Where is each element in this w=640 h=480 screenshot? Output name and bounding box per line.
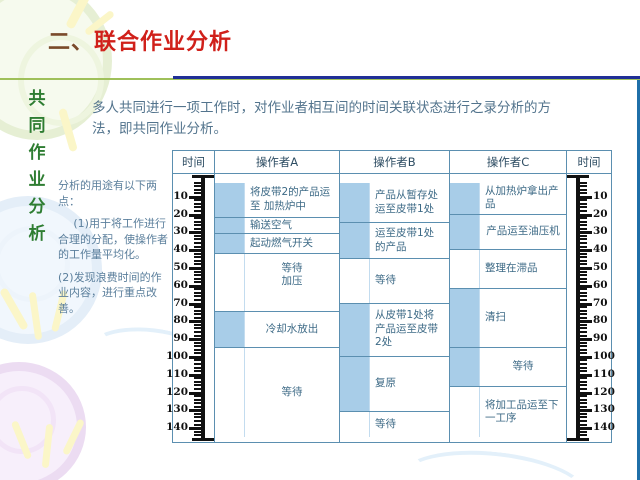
tick-minor [580, 363, 587, 365]
tick-minor [580, 242, 587, 244]
idle-bar [340, 259, 370, 302]
tick-label: 10 [173, 191, 188, 201]
tick-minor [580, 424, 587, 426]
tick-minor [194, 402, 201, 404]
decorative-ray [11, 420, 32, 460]
time-axis-right: 102030405060708090100110120130140 [567, 174, 611, 442]
tick-minor [194, 310, 201, 312]
vertical-label-char: 析 [22, 221, 52, 248]
tick-minor [580, 413, 587, 415]
tick-major [189, 409, 201, 412]
task-label: 从加热炉拿出产品 [480, 183, 566, 214]
idle-bar [450, 387, 480, 437]
tick-minor [580, 253, 587, 255]
tick-minor [194, 413, 201, 415]
tick-major [189, 214, 201, 217]
busy-bar [450, 289, 480, 347]
tick-major [580, 303, 592, 306]
tick-label: 80 [173, 315, 188, 325]
task-label: 等待 [370, 259, 449, 302]
tick-minor [580, 313, 587, 315]
tick-minor [580, 388, 587, 390]
tick-minor [580, 317, 587, 319]
tick-minor [580, 238, 587, 240]
decorative-ray [62, 418, 85, 455]
tick-major [189, 249, 201, 252]
task-label: 等待 [370, 412, 449, 437]
joint-operation-chart: 时间 操作者A 操作者B 操作者C 时间 1020304050607080901… [172, 150, 612, 443]
tick-minor [580, 246, 587, 248]
tick-minor [194, 217, 201, 219]
tick-label: 90 [593, 333, 608, 343]
task-block[interactable]: 清扫 [450, 289, 566, 348]
tick-label: 120 [593, 387, 615, 397]
tick-minor [194, 345, 201, 347]
note-heading: 分析的用途有以下两点： [58, 178, 168, 209]
tick-minor [580, 406, 587, 408]
task-label: 复原 [370, 357, 449, 411]
tick-minor [194, 352, 201, 354]
task-label: 等待加压 [245, 254, 339, 312]
tick-minor [194, 395, 201, 397]
tick-minor [580, 370, 587, 372]
task-block[interactable]: 将皮带2的产品运至 加热炉中 [215, 183, 339, 219]
tick-minor [580, 199, 587, 201]
task-label: 产品从暂存处运至皮带1处 [370, 183, 449, 223]
tick-label: 130 [166, 404, 188, 414]
tick-label: 60 [593, 280, 608, 290]
tick-minor [580, 310, 587, 312]
chart-header-operator-c: 操作者C [450, 151, 567, 173]
decorative-purple-circle-inner [0, 386, 56, 454]
vertical-label-char: 作 [22, 140, 52, 167]
note-item-1: (1)用于将工作进行合理的分配，使操作者的工作量平均化。 [58, 216, 168, 263]
tick-major [189, 196, 201, 199]
chart-body: 102030405060708090100110120130140 将皮带2的产… [173, 174, 611, 442]
tick-minor [580, 367, 587, 369]
tick-major [189, 320, 201, 323]
tick-major [580, 392, 592, 395]
tick-minor [580, 182, 587, 184]
busy-bar [215, 183, 245, 218]
tick-label: 120 [166, 387, 188, 397]
tick-label: 10 [593, 191, 608, 201]
decorative-ray [29, 292, 43, 341]
tick-minor [194, 199, 201, 201]
tick-minor [580, 342, 587, 344]
tick-label: 70 [173, 298, 188, 308]
tick-minor [580, 192, 587, 194]
tick-major [580, 374, 592, 377]
tick-label: 30 [173, 226, 188, 236]
tick-minor [580, 256, 587, 258]
tick-minor [194, 221, 201, 223]
tick-label: 70 [593, 298, 608, 308]
tick-minor [194, 331, 201, 333]
tick-minor [194, 327, 201, 329]
task-block[interactable]: 等待加压 [215, 254, 339, 313]
header-divider-blue [173, 76, 640, 79]
task-label: 起动燃气开关 [245, 234, 339, 253]
tick-major [189, 374, 201, 377]
tick-minor [194, 256, 201, 258]
busy-bar [215, 312, 245, 347]
task-label: 将加工品运至下一工序 [480, 387, 566, 437]
tick-minor [194, 182, 201, 184]
task-block[interactable]: 产品从暂存处运至皮带1处 [340, 183, 449, 224]
intro-paragraph: 多人共同进行一项工作时，对作业者相互间的时间关联状态进行之录分析的方法，即共同作… [92, 98, 562, 140]
task-block[interactable]: 等待 [450, 348, 566, 387]
tick-minor [194, 416, 201, 418]
task-label: 等待 [245, 348, 339, 437]
lane-operator-b: 产品从暂存处运至皮带1处运至皮带1处的产品等待从皮带1处将产品运至皮带2处复原等… [340, 174, 450, 442]
tick-minor [194, 388, 201, 390]
tick-minor [194, 317, 201, 319]
tick-minor [580, 221, 587, 223]
tick-minor [580, 292, 587, 294]
tick-minor [580, 299, 587, 301]
tick-minor [194, 253, 201, 255]
tick-minor [194, 299, 201, 301]
axis-cap [192, 438, 214, 441]
busy-bar [340, 223, 370, 258]
task-block[interactable]: 产品运至油压机 [450, 215, 566, 251]
busy-bar [450, 215, 480, 250]
tick-minor [194, 235, 201, 237]
idle-bar [340, 412, 370, 437]
tick-minor [194, 203, 201, 205]
tick-minor [194, 192, 201, 194]
tick-minor [580, 345, 587, 347]
task-block[interactable]: 将加工品运至下一工序 [450, 387, 566, 437]
tick-minor [194, 185, 201, 187]
tick-major [189, 427, 201, 430]
tick-label: 50 [173, 262, 188, 272]
tick-minor [580, 402, 587, 404]
tick-label: 30 [593, 226, 608, 236]
tick-label: 90 [173, 333, 188, 343]
decorative-ray [42, 424, 54, 468]
task-block[interactable]: 输送空气 [215, 218, 339, 234]
tick-label: 50 [593, 262, 608, 272]
tick-label: 130 [593, 404, 615, 414]
tick-minor [194, 263, 201, 265]
decorative-ray [0, 287, 29, 331]
tick-minor [194, 384, 201, 386]
idle-bar [450, 250, 480, 288]
vertical-label-char: 同 [22, 113, 52, 140]
tick-minor [580, 260, 587, 262]
tick-minor [580, 434, 587, 436]
task-label: 将皮带2的产品运至 加热炉中 [245, 183, 339, 218]
tick-minor [580, 263, 587, 265]
tick-minor [580, 281, 587, 283]
task-label: 产品运至油压机 [480, 215, 566, 250]
tick-minor [194, 363, 201, 365]
tick-minor [580, 206, 587, 208]
tick-minor [194, 406, 201, 408]
tick-minor [580, 295, 587, 297]
task-block[interactable]: 整理在滞品 [450, 250, 566, 289]
tick-minor [580, 271, 587, 273]
tick-minor [194, 367, 201, 369]
tick-minor [580, 352, 587, 354]
decorative-arc [397, 442, 591, 480]
tick-major [580, 427, 592, 430]
slide-canvas: 二、联合作业分析 共 同 作 业 分 析 多人共同进行一项工作时，对作业者相互间… [0, 0, 640, 480]
tick-major [580, 231, 592, 234]
busy-bar [340, 304, 370, 356]
task-label: 运至皮带1处的产品 [370, 223, 449, 258]
busy-bar [340, 183, 370, 223]
tick-major [189, 303, 201, 306]
vertical-section-label: 共 同 作 业 分 析 [22, 86, 52, 248]
page-title-number: 二、 [48, 29, 94, 55]
vertical-label-char: 分 [22, 194, 52, 221]
chart-header-time-left: 时间 [173, 151, 215, 173]
task-label: 冷却水放出 [245, 312, 339, 347]
tick-minor [580, 416, 587, 418]
axis-cap [567, 175, 589, 178]
chart-header-operator-a: 操作者A [215, 151, 340, 173]
tick-major [189, 231, 201, 234]
time-axis-left: 102030405060708090100110120130140 [173, 174, 215, 442]
notes-block: 分析的用途有以下两点： (1)用于将工作进行合理的分配，使操作者的工作量平均化。… [58, 178, 168, 323]
tick-label: 40 [173, 244, 188, 254]
tick-minor [194, 292, 201, 294]
busy-bar [450, 183, 480, 214]
tick-minor [194, 260, 201, 262]
busy-bar [340, 357, 370, 411]
tick-minor [194, 274, 201, 276]
tick-minor [580, 399, 587, 401]
busy-bar [450, 348, 480, 386]
tick-minor [194, 335, 201, 337]
tick-minor [580, 185, 587, 187]
lane-operator-a: 将皮带2的产品运至 加热炉中输送空气起动燃气开关等待加压冷却水放出等待 [215, 174, 340, 442]
tick-minor [194, 189, 201, 191]
lane-operator-c: 从加热炉拿出产品产品运至油压机整理在滞品清扫等待将加工品运至下一工序 [450, 174, 567, 442]
task-label: 整理在滞品 [480, 250, 566, 288]
tick-minor [580, 203, 587, 205]
tick-label: 60 [173, 280, 188, 290]
chart-header-operator-b: 操作者B [340, 151, 450, 173]
tick-minor [580, 217, 587, 219]
tick-minor [194, 381, 201, 383]
tick-minor [194, 424, 201, 426]
tick-label: 40 [593, 244, 608, 254]
tick-major [580, 214, 592, 217]
decorative-purple-circle [0, 362, 86, 480]
tick-minor [580, 306, 587, 308]
tick-minor [194, 431, 201, 433]
tick-minor [194, 228, 201, 230]
tick-minor [194, 313, 201, 315]
tick-minor [580, 381, 587, 383]
tick-minor [580, 274, 587, 276]
ruler-left: 102030405060708090100110120130140 [173, 174, 214, 442]
tick-label: 100 [166, 351, 188, 361]
tick-major [580, 249, 592, 252]
tick-major [189, 338, 201, 341]
tick-minor [194, 342, 201, 344]
tick-minor [194, 206, 201, 208]
tick-minor [580, 324, 587, 326]
tick-minor [194, 281, 201, 283]
lane-blocks-b: 产品从暂存处运至皮带1处运至皮带1处的产品等待从皮带1处将产品运至皮带2处复原等… [340, 174, 449, 442]
decorative-ray [58, 108, 78, 153]
lane-blocks-c: 从加热炉拿出产品产品运至油压机整理在滞品清扫等待将加工品运至下一工序 [450, 174, 566, 442]
tick-minor [194, 224, 201, 226]
ruler-right: 102030405060708090100110120130140 [567, 174, 611, 442]
tick-label: 20 [593, 209, 608, 219]
tick-label: 140 [593, 422, 615, 432]
task-block[interactable]: 复原 [340, 357, 449, 412]
tick-minor [194, 271, 201, 273]
tick-minor [580, 335, 587, 337]
tick-minor [194, 210, 201, 212]
tick-minor [580, 331, 587, 333]
tick-minor [194, 349, 201, 351]
task-block[interactable]: 等待 [340, 259, 449, 303]
tick-minor [194, 242, 201, 244]
vertical-label-char: 共 [22, 86, 52, 113]
tick-minor [580, 395, 587, 397]
tick-label: 140 [166, 422, 188, 432]
task-label: 等待 [480, 348, 566, 386]
axis-cap [567, 438, 589, 441]
tick-major [580, 320, 592, 323]
task-block[interactable]: 运至皮带1处的产品 [340, 223, 449, 259]
page-title: 二、联合作业分析 [48, 24, 232, 56]
tick-minor [194, 399, 201, 401]
idle-bar [215, 348, 245, 437]
tick-minor [580, 288, 587, 290]
tick-minor [580, 420, 587, 422]
tick-major [580, 409, 592, 412]
axis-cap [192, 175, 214, 178]
lane-blocks-a: 将皮带2的产品运至 加热炉中输送空气起动燃气开关等待加压冷却水放出等待 [215, 174, 339, 442]
tick-minor [194, 295, 201, 297]
task-block[interactable]: 等待 [215, 348, 339, 437]
tick-minor [580, 359, 587, 361]
tick-label: 110 [593, 369, 615, 379]
page-title-text: 联合作业分析 [94, 29, 232, 55]
chart-header-row: 时间 操作者A 操作者B 操作者C 时间 [173, 151, 611, 174]
idle-bar [215, 254, 245, 312]
task-label: 清扫 [480, 289, 566, 347]
task-label: 从皮带1处将产品运至皮带2处 [370, 304, 449, 356]
task-block[interactable]: 从加热炉拿出产品 [450, 183, 566, 215]
tick-minor [580, 377, 587, 379]
tick-label: 100 [593, 351, 615, 361]
tick-minor [580, 189, 587, 191]
tick-major [189, 267, 201, 270]
tick-major [189, 285, 201, 288]
tick-minor [194, 288, 201, 290]
busy-bar [215, 218, 245, 233]
tick-minor [580, 384, 587, 386]
task-block[interactable]: 起动燃气开关 [215, 234, 339, 254]
tick-label: 110 [166, 369, 188, 379]
tick-minor [194, 278, 201, 280]
tick-minor [194, 370, 201, 372]
task-block[interactable]: 从皮带1处将产品运至皮带2处 [340, 304, 449, 357]
tick-label: 20 [173, 209, 188, 219]
chart-header-time-right: 时间 [567, 151, 611, 173]
tick-minor [194, 324, 201, 326]
tick-minor [580, 431, 587, 433]
tick-minor [580, 349, 587, 351]
tick-minor [580, 224, 587, 226]
tick-minor [194, 306, 201, 308]
vertical-label-char: 业 [22, 167, 52, 194]
tick-minor [580, 235, 587, 237]
note-item-2: (2)发现浪费时间的作业内容，进行重点改善。 [58, 270, 168, 317]
tick-major [189, 356, 201, 359]
tick-major [189, 392, 201, 395]
tick-label: 80 [593, 315, 608, 325]
tick-major [580, 196, 592, 199]
tick-minor [194, 359, 201, 361]
tick-major [580, 285, 592, 288]
axis-line [201, 178, 205, 438]
task-block[interactable]: 等待 [340, 412, 449, 437]
task-block[interactable]: 冷却水放出 [215, 312, 339, 348]
tick-minor [580, 278, 587, 280]
tick-minor [194, 420, 201, 422]
tick-minor [194, 246, 201, 248]
task-label: 输送空气 [245, 218, 339, 233]
tick-major [580, 356, 592, 359]
tick-major [580, 267, 592, 270]
tick-minor [580, 327, 587, 329]
tick-minor [194, 434, 201, 436]
tick-minor [580, 210, 587, 212]
busy-bar [215, 234, 245, 253]
tick-major [580, 338, 592, 341]
tick-minor [194, 377, 201, 379]
tick-minor [580, 228, 587, 230]
tick-minor [194, 238, 201, 240]
